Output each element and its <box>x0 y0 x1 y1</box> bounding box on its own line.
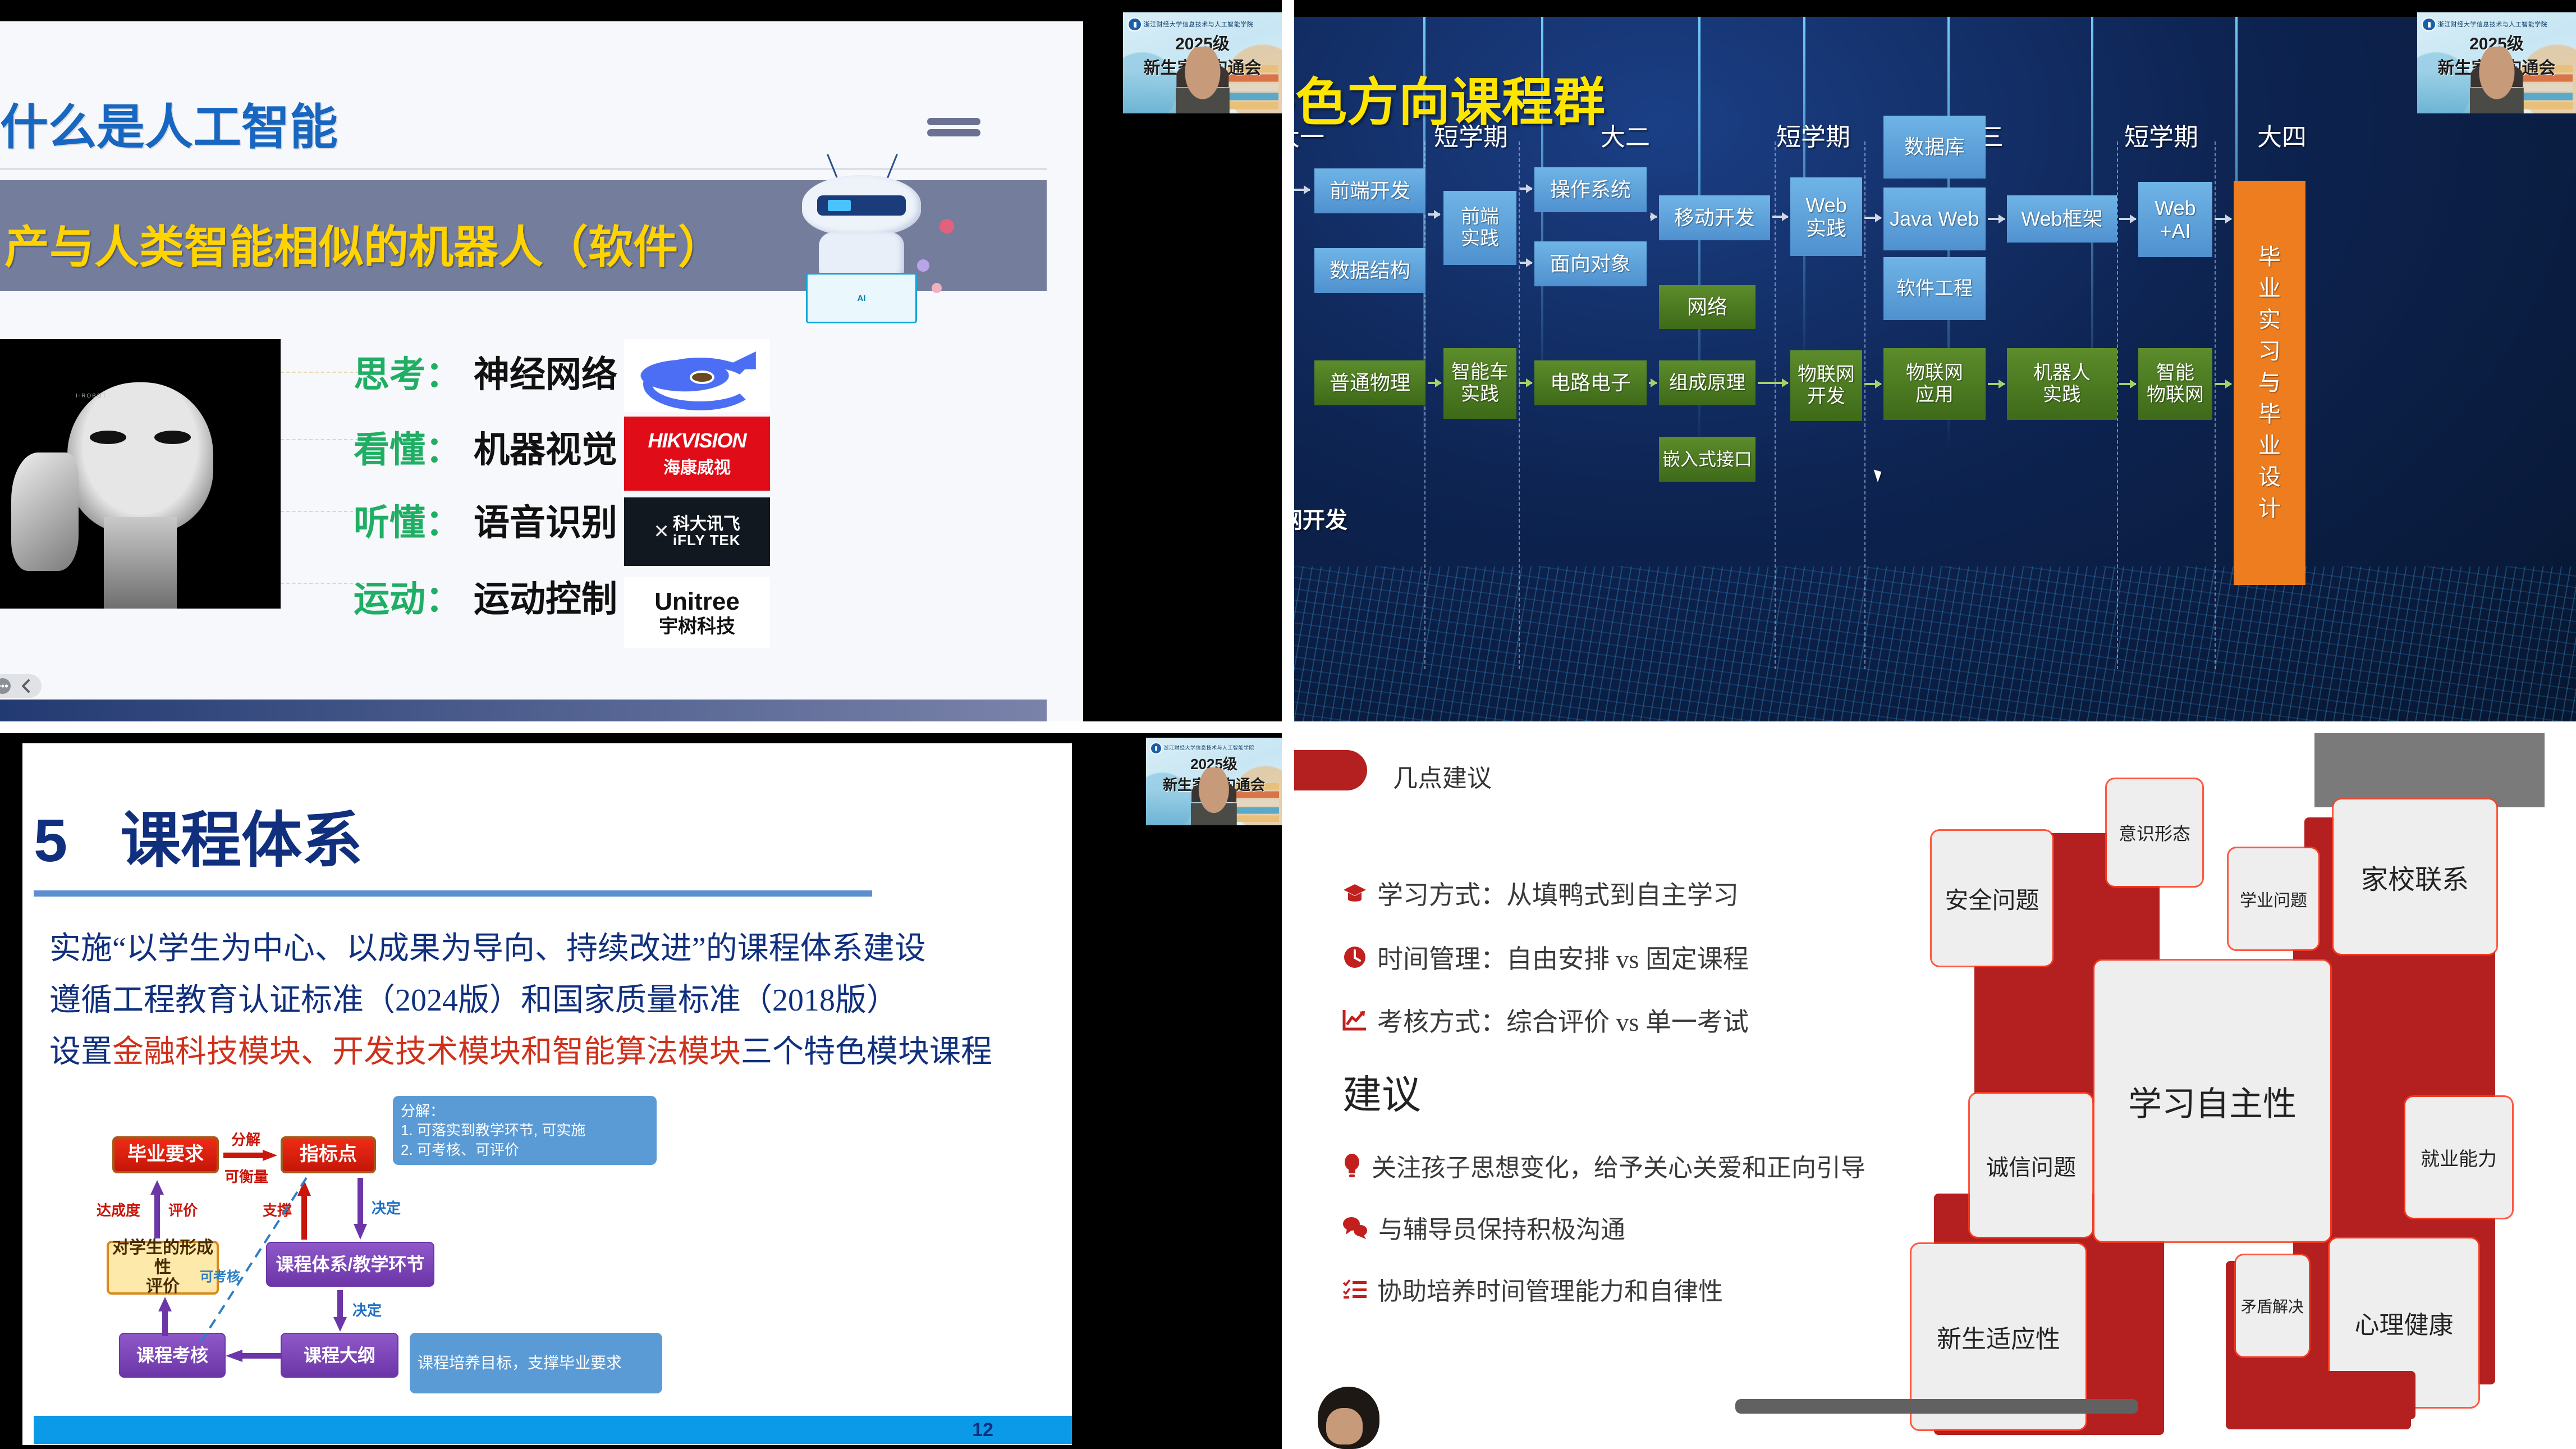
robot-photo-label: I-ROBOT <box>76 393 107 399</box>
arrow-decide-2 <box>333 1290 347 1332</box>
advice-item: 关注孩子思想变化，给予关心关爱和正向引导 <box>1342 1148 1865 1183</box>
iflytek-mark-icon: ✕ <box>653 520 670 543</box>
video-panel-ai-intro[interactable]: 什么是人工智能 产与人类智能相似的机器人（软件） <box>0 0 1282 721</box>
course-box-embedded-interface: 嵌入式接口 <box>1659 437 1755 482</box>
course-box-robot-practice: 机器人 实践 <box>2007 348 2117 420</box>
label-decide-2: 决定 <box>352 1299 382 1320</box>
label-decompose: 分解 <box>231 1128 260 1149</box>
arrow-achievement <box>150 1180 164 1238</box>
tile-ideology: 意识形态 <box>2107 779 2202 886</box>
course-box-database: 数据库 <box>1883 116 1986 179</box>
thumbnail-university: 浙江财经大学信息技术与人工智能学院 <box>1144 20 1254 29</box>
capability-value: 机器视觉 <box>474 421 617 473</box>
stage-label: 短学期 <box>1754 117 1872 153</box>
capability-value: 神经网络 <box>474 346 617 397</box>
course-box-iot-application: 物联网 应用 <box>1883 348 1986 420</box>
slide-course-system: 5 课程体系 实施“以学生为中心、以成果为导向、持续改进”的课程体系建设 遵循工… <box>22 743 1072 1445</box>
header-pill <box>1294 750 1367 790</box>
speech-bubbles-icon <box>1342 1215 1368 1239</box>
course-box-operating-system: 操作系统 <box>1534 167 1647 212</box>
hikvision-logo: HIKVISION 海康威视 <box>624 417 770 491</box>
course-box-composition-principle: 组成原理 <box>1659 360 1755 405</box>
section-header: 几点建议 <box>1393 758 1492 794</box>
course-box-network: 网络 <box>1659 285 1755 329</box>
advice-heading: 建议 <box>1342 1063 1421 1120</box>
hamburger-icon[interactable] <box>927 118 980 136</box>
tile-academic: 学业问题 <box>2229 848 2318 949</box>
course-box-web-framework: Web框架 <box>2007 195 2117 243</box>
capability-row: 听懂： 语音识别 <box>354 494 617 546</box>
chart-line-icon <box>1342 1009 1367 1031</box>
course-box-mobile-dev: 移动开发 <box>1659 195 1770 240</box>
presenter-face <box>1191 767 1237 825</box>
course-box-circuit-electronics: 电路电子 <box>1534 360 1647 405</box>
concept-tile-graphic: 安全问题 意识形态 学业问题 家校联系 学习自主性 诚信问题 就业能力 新生适应… <box>1912 733 2576 1449</box>
video-conference-grid: 什么是人工智能 产与人类智能相似的机器人（软件） <box>0 0 2576 1449</box>
capability-key: 运动： <box>354 570 461 622</box>
label-decide-1: 决定 <box>372 1197 401 1218</box>
stage-label: 大二 <box>1580 117 1670 153</box>
tile-learning-autonomy: 学习自主性 <box>2094 961 2330 1241</box>
compare-item-text: 考核方式：综合评价 vs 单一考试 <box>1377 1002 1749 1039</box>
dashed-assessable-line <box>196 1176 309 1344</box>
advice-item-text: 协助培养时间管理能力和自律性 <box>1377 1271 1723 1307</box>
presenter-thumbnail[interactable]: 浙江财经大学信息技术与人工智能学院 2025级 新生家校沟通会 <box>1146 738 1282 825</box>
course-box-smart-car-practice: 智能车 实践 <box>1443 348 1516 419</box>
callout-course-goal: 课程培养目标，支撑毕业要求 <box>410 1333 662 1393</box>
body-line: 实施“以学生为中心、以成果为导向、持续改进”的课程体系建设 <box>49 923 926 968</box>
arrow-to-formative <box>158 1297 172 1336</box>
course-box-software-engineering: 软件工程 <box>1883 257 1986 320</box>
tile-safety: 安全问题 <box>1932 831 2052 966</box>
left-edge-label: 联网开发 <box>1294 502 1378 534</box>
checklist-icon <box>1342 1278 1367 1300</box>
presenter-face <box>1175 47 1229 113</box>
advice-item-text: 关注孩子思想变化，给予关心关爱和正向引导 <box>1372 1148 1865 1183</box>
course-box-java-web: Java Web <box>1883 188 1986 250</box>
capability-value: 语音识别 <box>474 494 617 546</box>
capability-key: 听懂： <box>354 494 461 546</box>
deepseek-logo <box>624 339 770 412</box>
stage-label: 短学期 <box>2102 117 2220 153</box>
presenter-thumbnail[interactable]: 浙江财经大学信息技术与人工智能学院 2025级 新生家校沟通会 <box>2417 12 2576 113</box>
course-box-object-oriented: 面向对象 <box>1534 241 1647 286</box>
course-box-web-ai: Web +AI <box>2138 182 2212 257</box>
course-box-web-practice: Web 实践 <box>1790 177 1862 256</box>
label-assessable: 可考核 <box>200 1265 240 1285</box>
course-box-smart-iot: 智能 物联网 <box>2138 348 2212 420</box>
tile-employability: 就业能力 <box>2405 1097 2512 1218</box>
video-panel-course-system[interactable]: 5 课程体系 实施“以学生为中心、以成果为导向、持续改进”的课程体系建设 遵循工… <box>0 733 1282 1449</box>
horizontal-scrollbar[interactable] <box>1735 1399 2138 1414</box>
video-panel-curriculum-map[interactable]: 特色方向课程群 大一 短学期 大二 短学期 大三 短学期 大四 联网开发 前端开… <box>1294 0 2576 721</box>
advice-item: 协助培养时间管理能力和自律性 <box>1342 1271 1723 1307</box>
body-highlight: 金融科技模块、开发技术模块和智能算法模块 <box>112 1035 741 1069</box>
capability-key: 看懂： <box>354 421 461 473</box>
unitree-logo: Unitree 宇树科技 <box>624 577 770 648</box>
tile-integrity: 诚信问题 <box>1970 1094 2092 1237</box>
slide-footer: 12 <box>34 1416 1072 1444</box>
graduation-cap-icon <box>1342 882 1367 904</box>
slide-featured-course-groups: 特色方向课程群 大一 短学期 大二 短学期 大三 短学期 大四 联网开发 前端开… <box>1294 17 2576 721</box>
course-box-graduation: 毕 业 实 习 与 毕 业 设 计 <box>2234 181 2305 585</box>
iflytek-en: iFLY TEK <box>673 533 741 548</box>
course-box-front-end-dev: 前端开发 <box>1314 168 1425 213</box>
stage-label: 大四 <box>2237 117 2327 153</box>
diagram-graduation-requirement: 毕业要求 <box>112 1136 219 1173</box>
course-box-data-structure: 数据结构 <box>1314 248 1425 293</box>
compare-item: 考核方式：综合评价 vs 单一考试 <box>1342 1002 1749 1039</box>
course-system-diagram: 毕业要求 指标点 对学生的形成性 评价 课程体系/教学环节 课程大纲 课程考核 … <box>56 1131 870 1400</box>
arrow-decompose <box>223 1150 277 1161</box>
more-dots-icon[interactable] <box>0 678 11 694</box>
page-number-heading: 5 课程体系 <box>34 792 363 879</box>
capability-key: 思考： <box>354 346 461 397</box>
hikvision-en: HIKVISION <box>648 429 746 452</box>
robot-illustration <box>769 168 954 337</box>
capability-row: 运动： 运动控制 <box>354 570 617 622</box>
decoration-bar <box>2279 1371 2415 1419</box>
humanoid-robot-photo: I-ROBOT <box>0 339 281 609</box>
page-title: 什么是人工智能 <box>0 88 338 158</box>
thumbnail-university: 浙江财经大学信息技术与人工智能学院 <box>2438 20 2548 29</box>
chevron-left-icon[interactable] <box>20 679 31 693</box>
presenter-thumbnail[interactable]: 浙江财经大学信息技术与人工智能学院 2025级 新生家校沟通会 <box>1123 12 1282 113</box>
slide-suggestions: 几点建议 学习方式：从填鸭式到自主学习 时间管理：自由安排 vs 固定课程 考核… <box>1294 733 2576 1449</box>
capability-row: 看懂： 机器视觉 <box>354 421 617 473</box>
presenter-face <box>2469 47 2523 113</box>
body-pre: 设置 <box>49 1035 112 1069</box>
presenter-toolbar[interactable] <box>0 674 42 698</box>
tile-home-school: 家校联系 <box>2334 799 2496 954</box>
iflytek-cn: 科大讯飞 <box>673 515 741 533</box>
body-line: 遵循工程教育认证标准（2024版）和国家质量标准（2018版） <box>49 975 898 1020</box>
slide-what-is-ai: 什么是人工智能 产与人类智能相似的机器人（软件） <box>0 21 1083 721</box>
slide-page-number: 12 <box>972 1419 993 1441</box>
banner-text: 产与人类智能相似的机器人（软件） <box>4 211 723 276</box>
course-box-front-end-practice: 前端 实践 <box>1443 191 1516 265</box>
hikvision-cn: 海康威视 <box>663 454 731 478</box>
course-box-iot-dev: 物联网 开发 <box>1790 350 1862 421</box>
grey-block <box>2314 733 2545 807</box>
thumbnail-university: 浙江财经大学信息技术与人工智能学院 <box>1163 744 1254 751</box>
section-number: 5 <box>34 806 67 874</box>
stage-label: 大一 <box>1294 117 1345 153</box>
video-panel-suggestions[interactable]: 几点建议 学习方式：从填鸭式到自主学习 时间管理：自由安排 vs 固定课程 考核… <box>1294 733 2576 1449</box>
arrow-to-assessment <box>226 1350 282 1362</box>
label-achievement: 达成度 <box>97 1199 140 1220</box>
unitree-cn: 宇树科技 <box>659 616 735 637</box>
decoration-circle <box>2235 1371 2270 1419</box>
compare-item: 时间管理：自由安排 vs 固定课程 <box>1342 939 1749 976</box>
unitree-en: Unitree <box>654 588 740 615</box>
lightbulb-icon <box>1342 1153 1362 1178</box>
advice-item: 与辅导员保持积极沟通 <box>1342 1209 1625 1245</box>
advice-item-text: 与辅导员保持积极沟通 <box>1378 1209 1625 1245</box>
slide-footer-strip <box>0 700 1047 721</box>
capability-value: 运动控制 <box>474 570 617 622</box>
clock-icon <box>1342 945 1367 970</box>
compare-item-text: 学习方式：从填鸭式到自主学习 <box>1377 875 1739 912</box>
capability-row: 思考： 神经网络 <box>354 346 617 397</box>
tile-conflict-resolution: 矛盾解决 <box>2236 1255 2309 1356</box>
label-evaluate: 评价 <box>168 1199 198 1220</box>
arrow-decide-1 <box>354 1178 367 1240</box>
iflytek-logo: ✕ 科大讯飞 iFLY TEK <box>624 497 770 566</box>
body-post: 三个特色模块课程 <box>741 1035 992 1069</box>
title-divider <box>34 890 872 897</box>
diagram-indicator-point: 指标点 <box>281 1136 376 1173</box>
mouse-cursor <box>1874 468 1885 483</box>
body-line-highlight: 设置金融科技模块、开发技术模块和智能算法模块三个特色模块课程 <box>49 1026 992 1072</box>
stage-label: 短学期 <box>1412 117 1530 153</box>
compare-item-text: 时间管理：自由安排 vs 固定课程 <box>1377 939 1749 976</box>
page-title: 课程体系 <box>120 806 363 874</box>
compare-item: 学习方式：从填鸭式到自主学习 <box>1342 875 1739 912</box>
participant-video[interactable] <box>1294 1373 1401 1449</box>
callout-decompose-detail: 分解： 1. 可落实到教学环节, 可实施 2. 可考核、可评价 <box>393 1096 657 1165</box>
course-box-general-physics: 普通物理 <box>1314 360 1425 405</box>
